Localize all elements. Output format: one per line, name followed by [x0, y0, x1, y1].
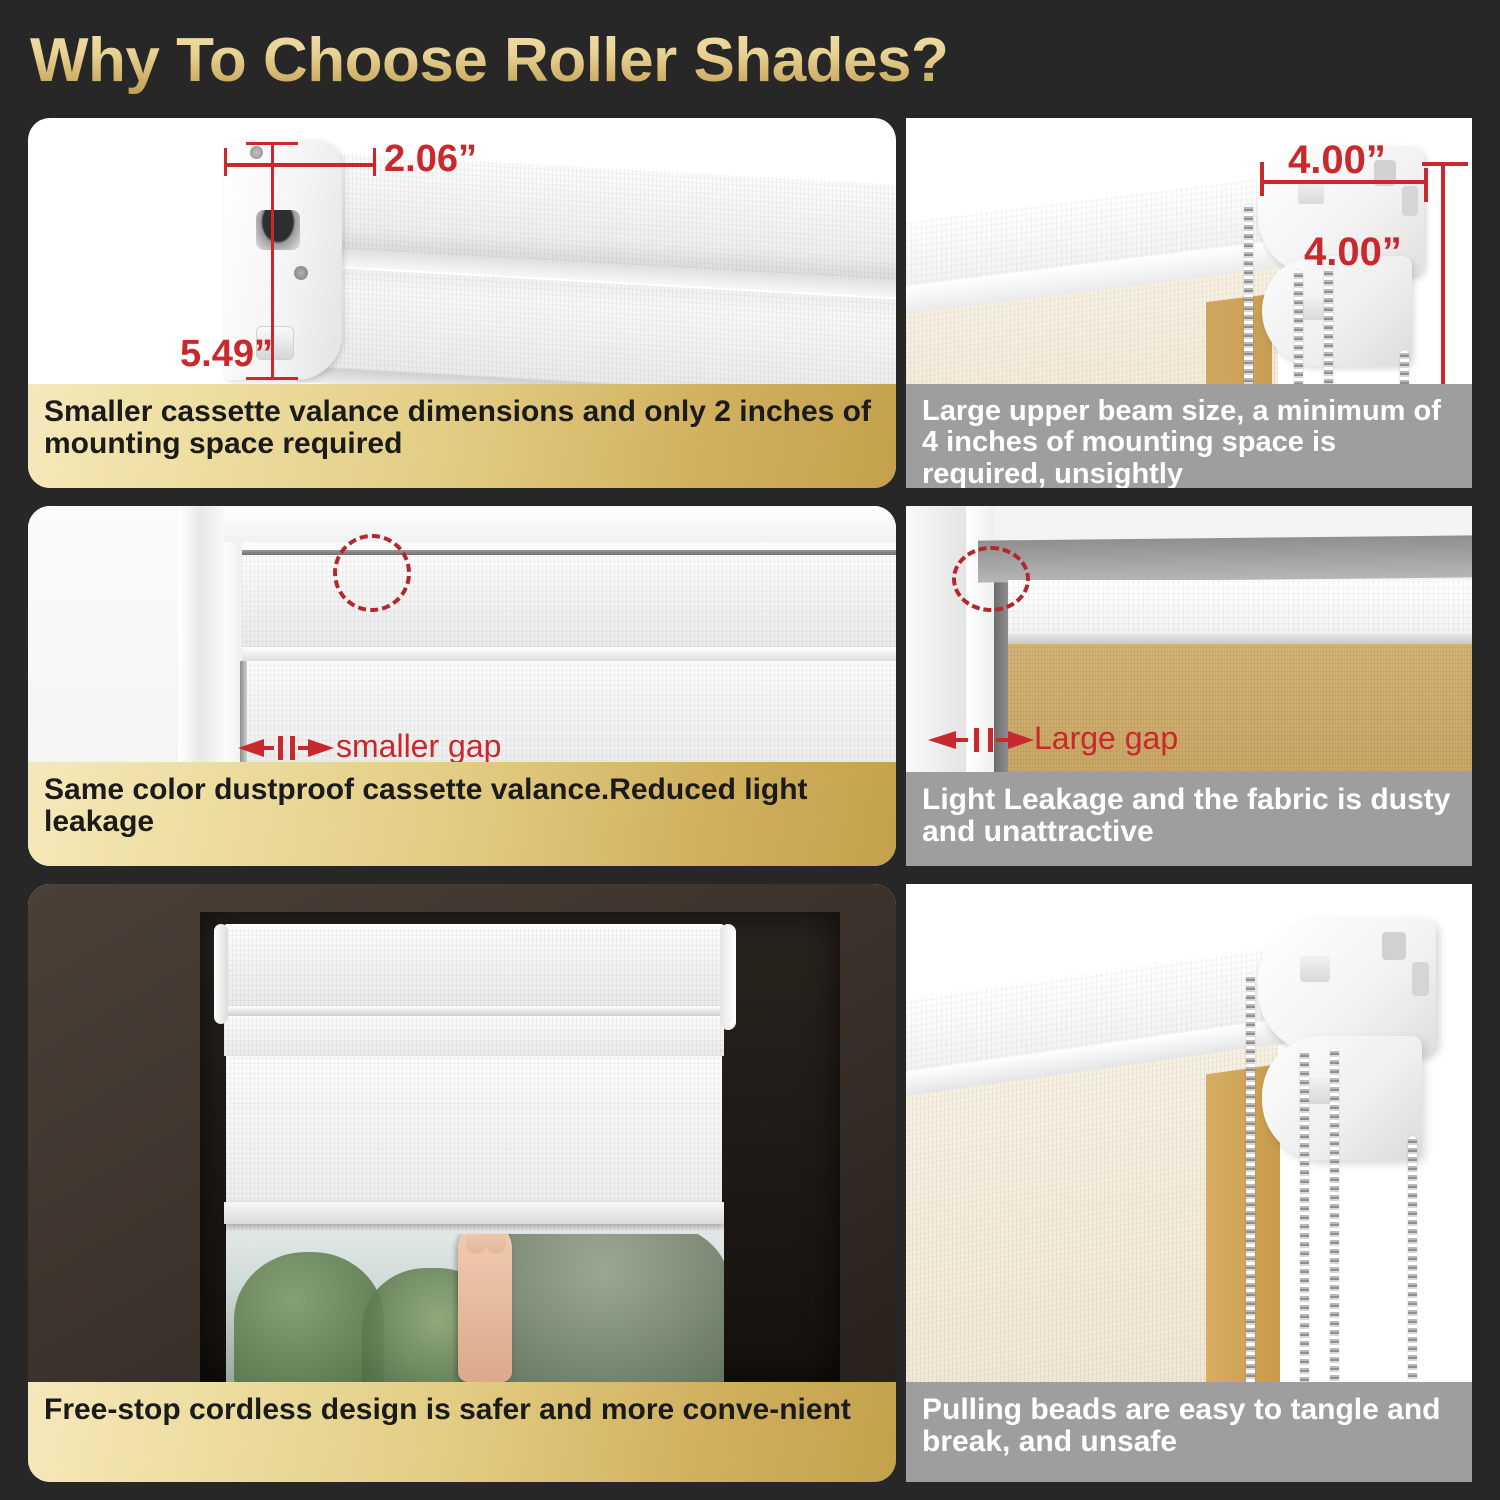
tree-right: [478, 1220, 724, 1382]
dimension-label-beam-width: 4.00”: [1288, 138, 1386, 183]
panel-top-right: 4.00” 4.00” Large upper beam size, a min…: [906, 118, 1472, 488]
white-roller-tube-r: [1008, 580, 1472, 636]
caption-bottom-right: Pulling beads are easy to tangle and bre…: [906, 1382, 1472, 1482]
dim-tick-206-right: [373, 148, 376, 176]
bracket-lower-br: [1262, 1036, 1422, 1160]
bracket-slot-a-br: [1382, 932, 1406, 960]
bracket-slot-b: [1402, 186, 1418, 216]
gap-label-r: Large gap: [1034, 720, 1178, 757]
tube-edge-r: [1008, 634, 1472, 644]
shade-end-cap-right: [720, 924, 736, 1030]
dimension-label-height: 5.49”: [180, 333, 273, 376]
dim-tick-549-top: [246, 142, 298, 145]
window-frame-left: [178, 506, 224, 786]
bracket-slot-b-br: [1412, 962, 1429, 996]
page-title: Why To Choose Roller Shades?: [30, 22, 1130, 100]
screw-lower-right: [294, 266, 308, 280]
window-frame-top: [224, 506, 896, 542]
screw-upper: [250, 146, 263, 159]
bracket-emboss-a: [1298, 182, 1324, 204]
dim-line-400-v: [1441, 162, 1445, 392]
shade-end-cap-left: [214, 924, 228, 1024]
caption-middle-left: Same color dustproof cassette valance.Re…: [28, 762, 896, 866]
bracket-upper-br: [1258, 918, 1436, 1054]
bracket-emboss-a-br: [1300, 956, 1330, 982]
dim-tick-400-h-right: [1424, 168, 1428, 202]
dim-tick-400-h-left: [1260, 162, 1264, 196]
panel-bottom-left: Free-stop cordless design is safer and m…: [28, 884, 896, 1482]
dim-tick-400-v-top: [1422, 162, 1468, 166]
caption-bottom-left: Free-stop cordless design is safer and m…: [28, 1382, 896, 1482]
dimension-label-width: 2.06”: [384, 138, 477, 181]
gap-highlight-circle-r: [952, 546, 1030, 612]
panel-middle-left: smaller gap Same color dustproof cassett…: [28, 506, 896, 866]
panel-middle-right: Large gap Light Leakage and the fabric i…: [906, 506, 1472, 866]
panel-bottom-right: Pulling beads are easy to tangle and bre…: [906, 884, 1472, 1482]
gap-arrow-icons-r: [928, 726, 1034, 754]
shade-valance-top: [224, 924, 724, 1006]
dim-line-206: [224, 163, 376, 167]
gap-label: smaller gap: [336, 728, 501, 765]
dimension-label-beam-height: 4.00”: [1304, 230, 1402, 275]
caption-middle-right: Light Leakage and the fabric is dusty an…: [906, 772, 1472, 866]
gap-arrow-icons: [238, 734, 334, 762]
gap-highlight-circle: [333, 534, 411, 612]
shade-valance-lower: [224, 1016, 724, 1056]
shade-bottom-rail: [224, 1202, 724, 1224]
panel-top-left: 2.06” 5.49” Smaller cassette valance dim…: [28, 118, 896, 488]
caption-top-right: Large upper beam size, a minimum of 4 in…: [906, 384, 1472, 488]
caption-top-left: Smaller cassette valance dimensions and …: [28, 384, 896, 488]
bead-chain-1: [1246, 974, 1255, 1444]
roller-socket: [256, 210, 300, 250]
upper-beam-dark: [978, 535, 1472, 582]
cassette-groove: [242, 647, 896, 661]
dim-tick-549-bottom: [246, 377, 298, 380]
dim-tick-206-left: [224, 148, 227, 176]
shade-valance-lip: [218, 1006, 730, 1016]
